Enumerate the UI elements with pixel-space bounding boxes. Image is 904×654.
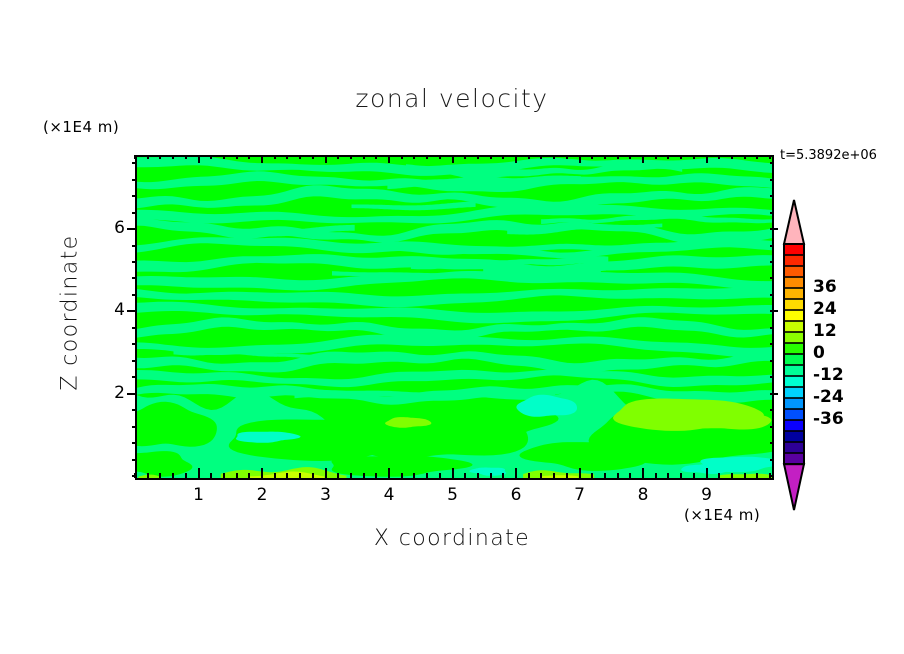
y-axis-tick xyxy=(127,393,137,395)
x-axis-tick xyxy=(744,473,746,478)
x-axis-tick xyxy=(706,155,708,163)
x-axis-tick xyxy=(617,473,619,478)
x-axis-tick xyxy=(248,155,250,159)
y-axis-tick xyxy=(132,459,137,461)
y-axis-tick xyxy=(132,327,137,329)
x-axis-tick xyxy=(502,473,504,478)
x-tick-label-4: 4 xyxy=(369,485,409,505)
colorbar-tick-label-24: 24 xyxy=(813,299,837,319)
y-axis-tick xyxy=(132,360,137,362)
y-axis-tick xyxy=(132,277,137,279)
y-axis-tick xyxy=(770,393,778,395)
x-axis-tick xyxy=(286,155,288,159)
timestamp-annotation: t=5.3892e+06 xyxy=(780,148,877,163)
x-axis-tick xyxy=(210,155,212,159)
x-axis-tick xyxy=(147,155,149,159)
x-axis-tick xyxy=(566,155,568,159)
x-axis-tick xyxy=(388,155,390,163)
x-axis-tick xyxy=(363,473,365,478)
x-axis-unit-label: (×1E4 m) xyxy=(684,506,760,524)
x-axis-tick xyxy=(413,473,415,478)
x-axis-tick xyxy=(667,473,669,478)
colorbar-tick-label-neg12: -12 xyxy=(813,365,844,385)
x-axis-tick xyxy=(236,473,238,478)
x-axis-tick xyxy=(756,155,758,159)
x-axis-tick xyxy=(515,155,517,163)
x-axis-tick xyxy=(617,155,619,159)
x-axis-tick xyxy=(299,155,301,159)
x-tick-label-1: 1 xyxy=(179,485,219,505)
x-axis-tick xyxy=(325,468,327,478)
contour-field xyxy=(137,157,772,478)
x-axis-tick xyxy=(261,468,263,478)
y-axis-tick xyxy=(770,245,774,247)
x-axis-tick xyxy=(439,155,441,159)
x-axis-tick xyxy=(629,155,631,159)
x-axis-tick xyxy=(312,473,314,478)
x-axis-tick xyxy=(540,155,542,159)
x-axis-tick xyxy=(274,155,276,159)
colorbar-gradient xyxy=(778,198,812,512)
x-axis-tick xyxy=(350,473,352,478)
y-axis-tick xyxy=(770,294,774,296)
y-axis-tick xyxy=(132,442,137,444)
x-axis-tick xyxy=(210,473,212,478)
x-axis-tick xyxy=(185,155,187,159)
y-axis-tick xyxy=(132,245,137,247)
x-axis-tick xyxy=(528,473,530,478)
x-axis-tick xyxy=(706,468,708,478)
x-axis-tick xyxy=(477,155,479,159)
x-axis-tick xyxy=(769,155,771,159)
x-tick-label-7: 7 xyxy=(560,485,600,505)
y-axis-tick xyxy=(127,228,137,230)
x-axis-tick xyxy=(350,155,352,159)
x-axis-tick xyxy=(261,155,263,163)
y-axis-tick xyxy=(770,409,774,411)
y-tick-label-2: 2 xyxy=(95,383,125,403)
y-axis-tick xyxy=(132,261,137,263)
x-axis-tick xyxy=(286,473,288,478)
x-axis-tick xyxy=(401,155,403,159)
colorbar-tick-label-neg36: -36 xyxy=(813,409,844,429)
y-axis-tick xyxy=(132,179,137,181)
x-axis-tick xyxy=(388,468,390,478)
x-axis-tick xyxy=(604,155,606,159)
colorbar xyxy=(778,198,812,512)
y-axis-tick xyxy=(132,195,137,197)
y-axis-tick xyxy=(132,162,137,164)
x-tick-label-3: 3 xyxy=(306,485,346,505)
x-axis-tick xyxy=(718,155,720,159)
page-title: zonal velocity xyxy=(0,84,904,113)
x-tick-label-5: 5 xyxy=(433,485,473,505)
x-axis-tick xyxy=(337,155,339,159)
x-axis-tick xyxy=(540,473,542,478)
x-axis-tick xyxy=(325,155,327,163)
x-axis-tick xyxy=(172,473,174,478)
x-axis-tick xyxy=(490,473,492,478)
x-axis-tick xyxy=(198,468,200,478)
x-axis-tick xyxy=(553,155,555,159)
x-tick-label-6: 6 xyxy=(496,485,536,505)
x-axis-tick xyxy=(452,468,454,478)
y-axis-tick xyxy=(127,310,137,312)
colorbar-tick-label-0: 0 xyxy=(813,343,825,363)
x-axis-tick xyxy=(464,155,466,159)
y-axis-tick xyxy=(770,426,774,428)
x-axis-tick xyxy=(579,155,581,163)
x-axis-tick xyxy=(490,155,492,159)
x-axis-tick xyxy=(655,155,657,159)
x-axis-tick xyxy=(629,473,631,478)
x-axis-tick xyxy=(693,155,695,159)
x-axis-tick xyxy=(604,473,606,478)
x-axis-tick xyxy=(756,473,758,478)
y-axis-tick xyxy=(770,212,774,214)
y-axis-tick xyxy=(770,343,774,345)
figure-canvas: zonal velocity (×1E4 m) (×1E4 m) Z coord… xyxy=(0,0,904,654)
x-axis-tick xyxy=(579,468,581,478)
y-axis-tick xyxy=(132,376,137,378)
x-axis-tick xyxy=(655,473,657,478)
y-axis-tick xyxy=(770,195,774,197)
x-axis-tick xyxy=(477,473,479,478)
x-axis-tick xyxy=(426,473,428,478)
x-axis-tick xyxy=(502,155,504,159)
x-axis-tick xyxy=(185,473,187,478)
x-axis-tick xyxy=(667,155,669,159)
y-axis-title: Z coordinate xyxy=(58,213,83,413)
x-axis-tick xyxy=(680,155,682,159)
x-axis-tick xyxy=(566,473,568,478)
y-axis-unit-label: (×1E4 m) xyxy=(43,118,119,136)
y-axis-tick xyxy=(132,409,137,411)
x-axis-tick xyxy=(439,473,441,478)
x-tick-label-9: 9 xyxy=(687,485,727,505)
x-axis-tick xyxy=(642,155,644,163)
x-axis-tick xyxy=(134,155,136,159)
x-axis-tick xyxy=(693,473,695,478)
x-axis-tick xyxy=(236,155,238,159)
x-axis-tick xyxy=(159,155,161,159)
y-axis-tick xyxy=(770,459,774,461)
y-axis-tick xyxy=(770,310,778,312)
x-axis-tick xyxy=(642,468,644,478)
x-axis-tick xyxy=(172,155,174,159)
y-axis-tick xyxy=(770,376,774,378)
y-axis-tick xyxy=(770,442,774,444)
x-axis-tick xyxy=(553,473,555,478)
contour-plot-area xyxy=(135,155,774,480)
y-axis-tick xyxy=(132,294,137,296)
colorbar-tick-label-12: 12 xyxy=(813,321,837,341)
y-axis-tick xyxy=(770,228,778,230)
x-tick-label-2: 2 xyxy=(242,485,282,505)
y-axis-tick xyxy=(770,327,774,329)
x-axis-tick xyxy=(223,473,225,478)
x-axis-tick xyxy=(731,155,733,159)
colorbar-tick-label-neg24: -24 xyxy=(813,387,844,407)
y-tick-label-6: 6 xyxy=(95,218,125,238)
x-axis-title: X coordinate xyxy=(0,526,904,551)
x-axis-tick xyxy=(591,473,593,478)
x-axis-tick xyxy=(426,155,428,159)
y-axis-tick xyxy=(770,162,774,164)
y-axis-tick xyxy=(770,261,774,263)
x-axis-tick xyxy=(223,155,225,159)
colorbar-tick-label-36: 36 xyxy=(813,277,837,297)
x-axis-tick xyxy=(375,473,377,478)
x-axis-tick xyxy=(198,155,200,163)
x-axis-tick xyxy=(464,473,466,478)
x-axis-tick xyxy=(718,473,720,478)
x-axis-tick xyxy=(159,473,161,478)
x-axis-tick xyxy=(731,473,733,478)
y-axis-tick xyxy=(770,360,774,362)
y-axis-tick xyxy=(770,179,774,181)
x-axis-tick xyxy=(147,473,149,478)
x-axis-tick xyxy=(248,473,250,478)
x-axis-tick xyxy=(591,155,593,159)
x-axis-tick xyxy=(337,473,339,478)
y-axis-tick xyxy=(770,475,774,477)
y-axis-tick xyxy=(132,343,137,345)
x-axis-tick xyxy=(680,473,682,478)
x-axis-tick xyxy=(363,155,365,159)
x-axis-tick xyxy=(401,473,403,478)
y-axis-tick xyxy=(132,475,137,477)
y-axis-tick xyxy=(132,212,137,214)
x-axis-tick xyxy=(452,155,454,163)
x-axis-tick xyxy=(528,155,530,159)
x-tick-label-8: 8 xyxy=(623,485,663,505)
x-axis-tick xyxy=(515,468,517,478)
y-tick-label-4: 4 xyxy=(95,300,125,320)
y-axis-tick xyxy=(132,426,137,428)
x-axis-tick xyxy=(375,155,377,159)
x-axis-tick xyxy=(274,473,276,478)
x-axis-tick xyxy=(312,155,314,159)
x-axis-tick xyxy=(299,473,301,478)
y-axis-tick xyxy=(770,277,774,279)
x-axis-tick xyxy=(744,155,746,159)
x-axis-tick xyxy=(413,155,415,159)
